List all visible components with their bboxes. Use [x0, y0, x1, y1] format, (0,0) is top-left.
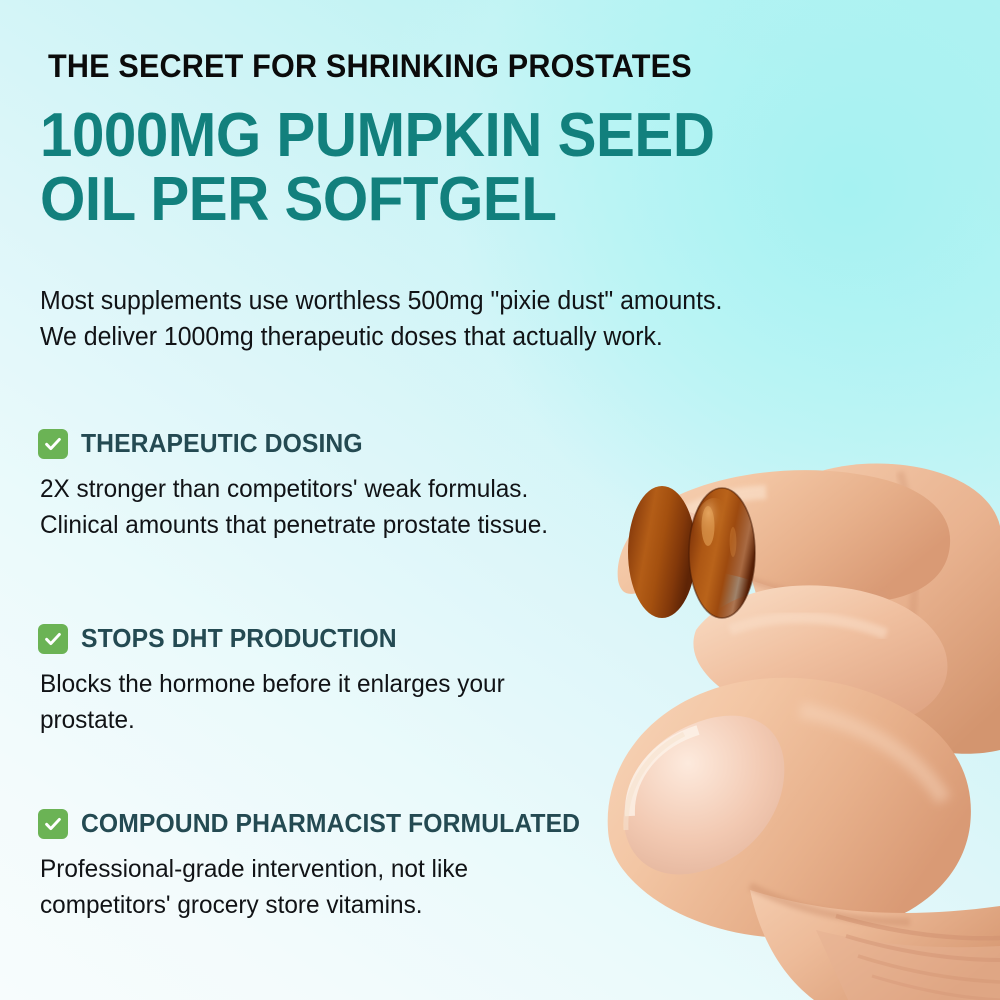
capsule-edge — [689, 488, 755, 618]
feature-body: Blocks the hormone before it enlarges yo… — [38, 667, 505, 738]
feature-title: THERAPEUTIC DOSING — [81, 428, 363, 459]
softgel-capsule — [628, 486, 696, 618]
feature-body-line-1: 2X stronger than competitors' weak formu… — [40, 472, 548, 508]
feature-body: 2X stronger than competitors' weak formu… — [38, 472, 548, 543]
headline-line-2: OIL PER SOFTGEL — [40, 168, 792, 232]
feature-item-compound-pharmacist-formulated: COMPOUND PHARMACIST FORMULATED Professio… — [38, 808, 606, 923]
softgel-capsule-overlay — [686, 486, 758, 620]
feature-body-line-1: Blocks the hormone before it enlarges yo… — [40, 667, 505, 703]
check-icon — [38, 429, 68, 459]
product-infographic: THE SECRET FOR SHRINKING PROSTATES 1000M… — [0, 0, 1000, 1000]
check-icon — [38, 624, 68, 654]
feature-title: STOPS DHT PRODUCTION — [81, 623, 397, 654]
subcopy-line-1: Most supplements use worthless 500mg "pi… — [40, 283, 869, 319]
feature-heading: STOPS DHT PRODUCTION — [38, 623, 517, 654]
capsule-highlight-main — [702, 506, 715, 546]
eyebrow-headline: THE SECRET FOR SHRINKING PROSTATES — [48, 48, 692, 85]
feature-body-line-2: competitors' grocery store vitamins. — [40, 888, 592, 924]
feature-body-line-2: prostate. — [40, 703, 505, 739]
feature-body: Professional-grade intervention, not lik… — [38, 852, 592, 923]
feature-heading: THERAPEUTIC DOSING — [38, 428, 561, 459]
hand-holding-capsule-image — [600, 330, 1000, 1000]
subcopy: Most supplements use worthless 500mg "pi… — [40, 283, 869, 355]
page-title: 1000MG PUMPKIN SEED OIL PER SOFTGEL — [40, 104, 792, 233]
feature-item-therapeutic-dosing: THERAPEUTIC DOSING 2X stronger than comp… — [38, 428, 561, 543]
check-icon — [38, 809, 68, 839]
feature-body-line-1: Professional-grade intervention, not lik… — [40, 852, 592, 888]
capsule-highlight-secondary — [730, 527, 737, 557]
capsule-glow — [694, 498, 734, 566]
capsule-body — [689, 488, 755, 618]
feature-title: COMPOUND PHARMACIST FORMULATED — [81, 808, 580, 839]
feature-item-stops-dht-production: STOPS DHT PRODUCTION Blocks the hormone … — [38, 623, 517, 738]
feature-body-line-2: Clinical amounts that penetrate prostate… — [40, 508, 548, 544]
headline-line-1: 1000MG PUMPKIN SEED — [40, 104, 792, 168]
feature-heading: COMPOUND PHARMACIST FORMULATED — [38, 808, 606, 839]
subcopy-line-2: We deliver 1000mg therapeutic doses that… — [40, 319, 869, 355]
